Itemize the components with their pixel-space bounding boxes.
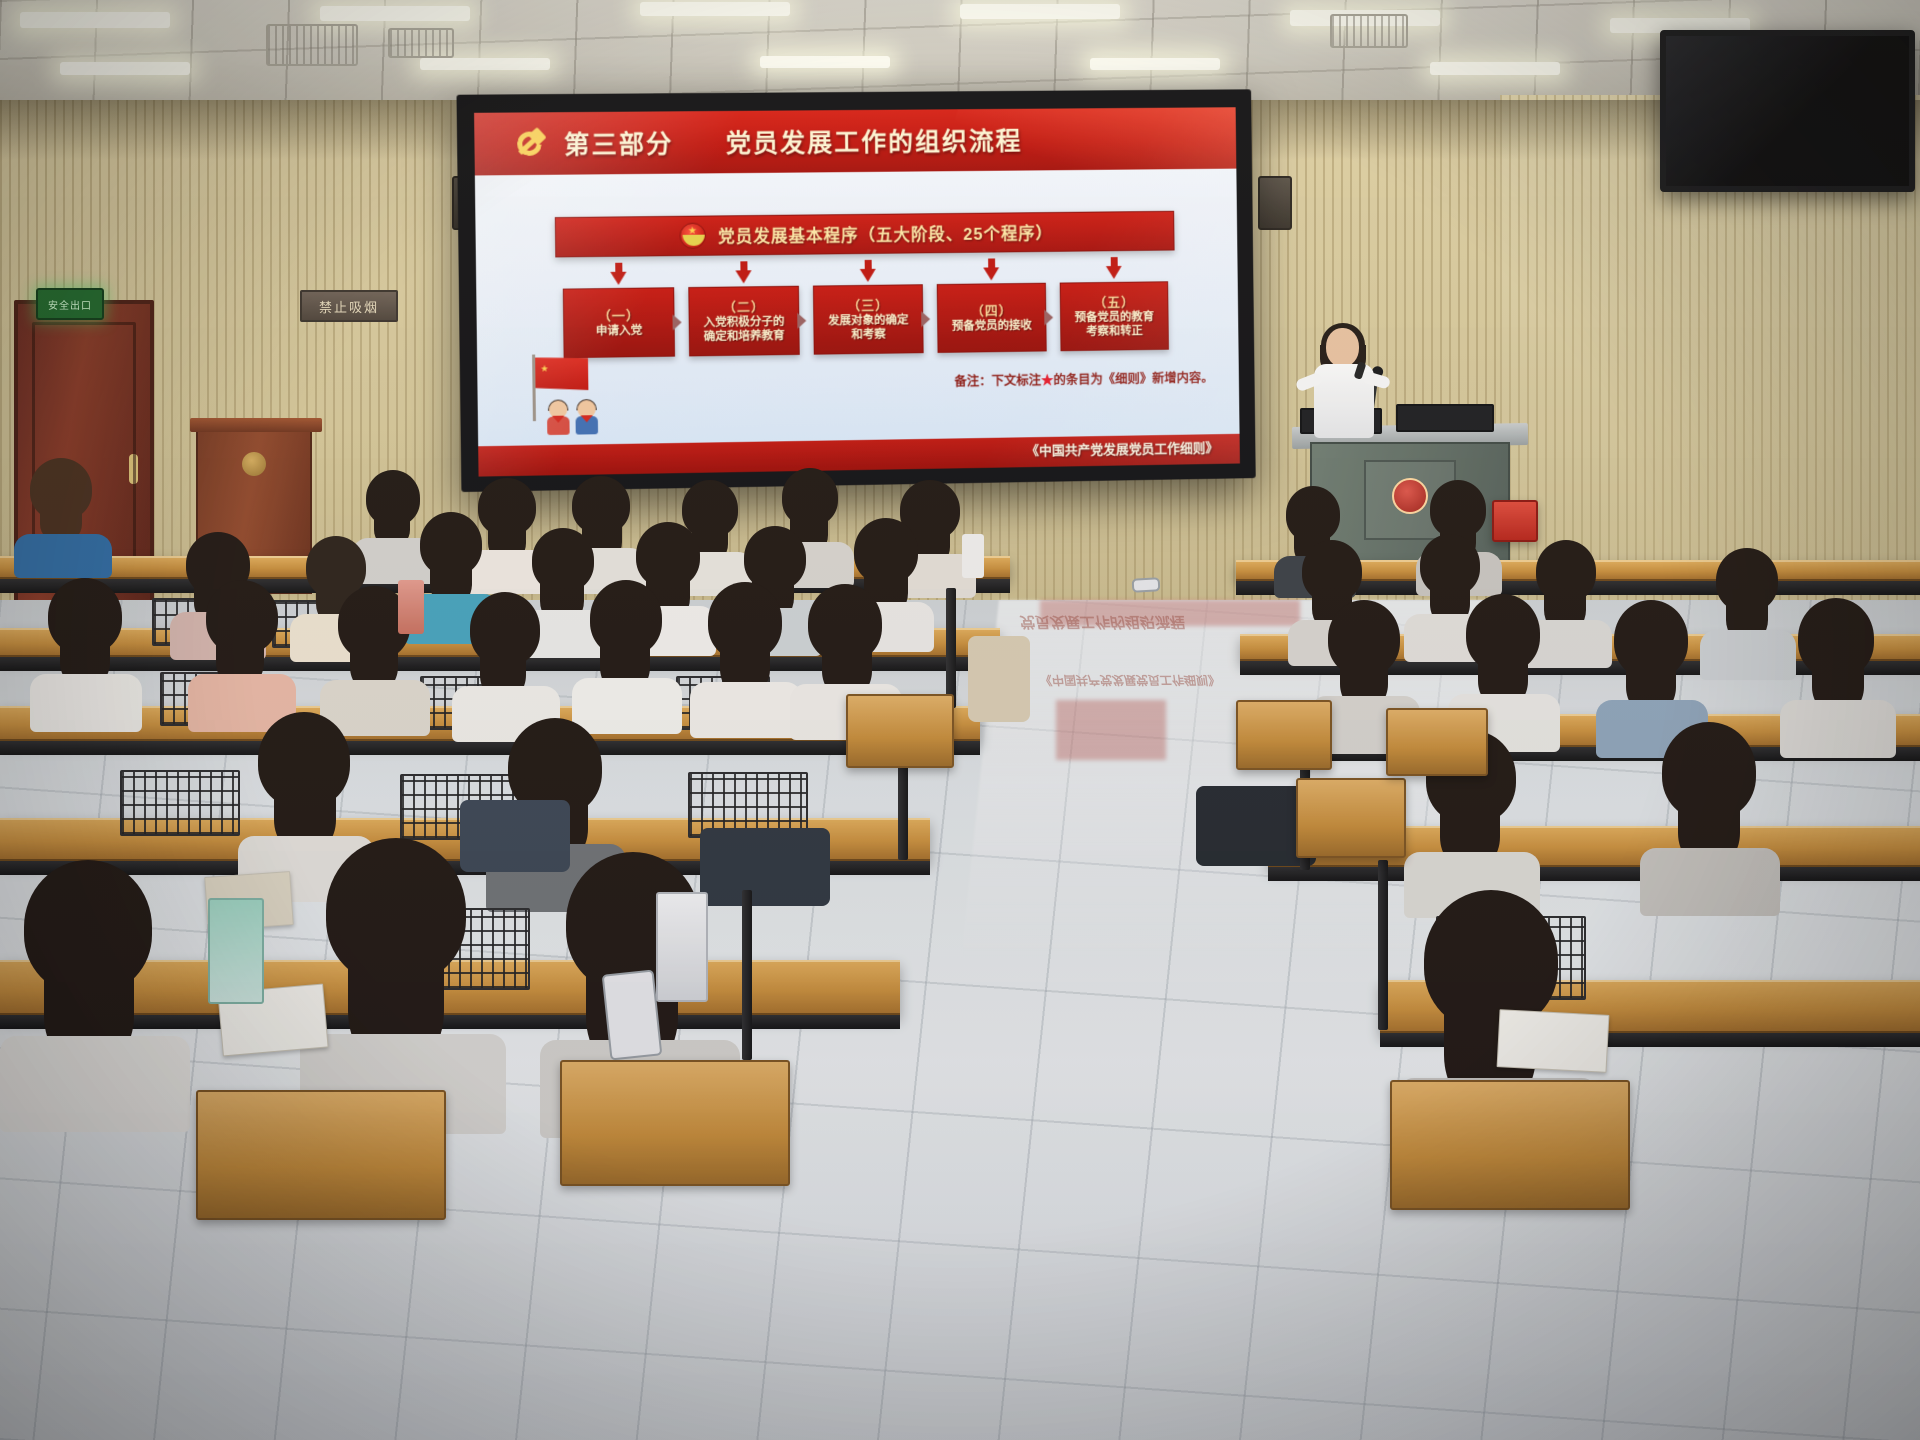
seat-back <box>1236 700 1332 770</box>
down-arrow-icon <box>610 263 627 285</box>
step-number: （五） <box>1093 294 1135 310</box>
ceiling-light <box>420 58 550 70</box>
seat-back <box>1296 778 1406 858</box>
procedure-step-1: （一） 申请入党 <box>563 287 675 358</box>
seat-back <box>560 1060 790 1186</box>
ceiling-light <box>320 6 470 21</box>
step-label: 发展对象的确定 和考察 <box>828 313 909 342</box>
student <box>14 458 110 556</box>
water-bottle[interactable] <box>656 892 708 1002</box>
smartphone[interactable] <box>1132 577 1161 592</box>
ceiling-light <box>60 62 190 75</box>
note-suffix: 的条目为《细则》新增内容。 <box>1053 371 1213 387</box>
child-illustration <box>573 400 600 435</box>
air-conditioning-vent <box>266 24 358 66</box>
slide-title: 第三部分 党员发展工作的组织流程 <box>564 122 1023 162</box>
child-illustration <box>545 400 572 435</box>
student <box>1640 722 1780 890</box>
smartphone[interactable] <box>602 970 663 1061</box>
water-bottle[interactable] <box>208 898 264 1004</box>
air-conditioning-vent <box>1330 14 1408 48</box>
party-emblem-icon <box>511 125 548 162</box>
wall-plaque: 禁止吸烟 <box>300 290 398 322</box>
presenter-head <box>1326 328 1359 367</box>
podium-emblem-icon <box>242 452 266 476</box>
water-bottle[interactable] <box>962 534 984 578</box>
student <box>30 578 142 704</box>
floor-reflection-text: 《中国共产党发展党员工作细则》 <box>1039 672 1221 689</box>
wall-speaker <box>1258 176 1292 230</box>
chevron-right-icon <box>1044 309 1053 325</box>
step-label: 申请入党 <box>596 323 643 338</box>
step-number: （四） <box>971 303 1013 319</box>
student <box>690 582 802 712</box>
slide-title-main: 党员发展工作的组织流程 <box>726 128 1023 158</box>
student <box>188 580 296 706</box>
slide-title-section: 第三部分 <box>564 130 674 159</box>
note-star-icon: ★ <box>1041 373 1054 387</box>
air-conditioning-vent <box>388 28 454 58</box>
student <box>572 580 682 710</box>
step-label: 入党积极分子的 确定和培养教育 <box>704 314 785 343</box>
tote-bag <box>968 636 1030 722</box>
step-number: （三） <box>847 297 889 314</box>
door-handle-icon <box>129 454 138 484</box>
ceiling-light <box>760 56 890 68</box>
chevron-right-icon <box>797 312 806 328</box>
chevron-right-icon <box>672 314 681 330</box>
notebook[interactable] <box>1497 1009 1610 1073</box>
projection-screen-content: 第三部分 党员发展工作的组织流程 ★ 党员发展基本程序（五大阶段、25个程序） <box>474 107 1240 476</box>
seat-back <box>196 1090 446 1220</box>
down-arrow-icon <box>1105 257 1122 279</box>
flag-illustration: ★ <box>518 353 631 435</box>
exit-sign: 安全出口 <box>36 288 104 320</box>
ceiling-light <box>1090 58 1220 70</box>
desk-basket <box>120 770 240 836</box>
chevron-right-icon <box>921 311 930 327</box>
seat-post <box>946 588 956 708</box>
seat-post <box>742 890 752 1060</box>
note-prefix: 备注：下文标注 <box>954 373 1041 388</box>
procedure-banner: ★ 党员发展基本程序（五大阶段、25个程序） <box>555 211 1175 258</box>
procedure-step-row: （一） 申请入党 （二） 入党积极分子的 确定和培养教育 （三） 发展对象的确定… <box>556 281 1176 358</box>
student <box>0 860 190 1100</box>
slide-body: ★ 党员发展基本程序（五大阶段、25个程序） （一） 申请入党 <box>475 169 1240 477</box>
lecture-hall-photo: 安全出口 禁止吸烟 第三部分 党员发展工作的组织流程 ★ 党员发展基本程 <box>0 0 1920 1440</box>
student <box>1780 598 1896 730</box>
lectern-monitor <box>1396 404 1494 432</box>
floor-reflection-slide <box>1056 700 1166 760</box>
student <box>1596 600 1708 730</box>
ceiling-light <box>1430 62 1560 75</box>
ceiling-light <box>20 12 170 28</box>
floor-reflection-text: 党员发展工作的组织流程 <box>1019 612 1187 633</box>
down-arrow-icon <box>735 261 752 283</box>
party-badge-icon: ★ <box>680 223 707 249</box>
procedure-step-3: （三） 发展对象的确定 和考察 <box>813 284 924 354</box>
water-bottle[interactable] <box>398 580 424 634</box>
step-number: （二） <box>723 299 765 316</box>
step-label: 预备党员的教育 考察和转正 <box>1075 310 1155 339</box>
student <box>300 838 506 1098</box>
step-label: 预备党员的接收 <box>952 318 1032 333</box>
step-number: （一） <box>598 307 641 324</box>
slide-title-bar: 第三部分 党员发展工作的组织流程 <box>474 107 1236 175</box>
student <box>1448 594 1560 724</box>
procedure-step-4: （四） 预备党员的接收 <box>937 283 1047 353</box>
seat-back <box>1390 1080 1630 1210</box>
slide-note: 备注：下文标注★的条目为《细则》新增内容。 <box>954 367 1213 390</box>
ceiling-light <box>640 2 790 16</box>
down-arrow-icon <box>983 258 1000 280</box>
ceiling-light <box>960 4 1120 19</box>
student <box>452 592 560 716</box>
presenter <box>1290 328 1400 458</box>
down-arrow-icon <box>859 260 876 282</box>
procedure-step-5: （五） 预备党员的教育 考察和转正 <box>1060 281 1169 351</box>
seat-back <box>846 694 954 768</box>
projection-screen: 第三部分 党员发展工作的组织流程 ★ 党员发展基本程序（五大阶段、25个程序） <box>456 89 1255 492</box>
seat-back <box>1386 708 1488 776</box>
slide-footer-text: 《中国共产党发展党员工作细则》 <box>1026 437 1218 459</box>
wall-monitor <box>1660 30 1915 192</box>
procedure-step-2: （二） 入党积极分子的 确定和培养教育 <box>688 286 799 357</box>
seat-post <box>1378 860 1388 1030</box>
procedure-banner-text: 党员发展基本程序（五大阶段、25个程序） <box>718 220 1053 248</box>
